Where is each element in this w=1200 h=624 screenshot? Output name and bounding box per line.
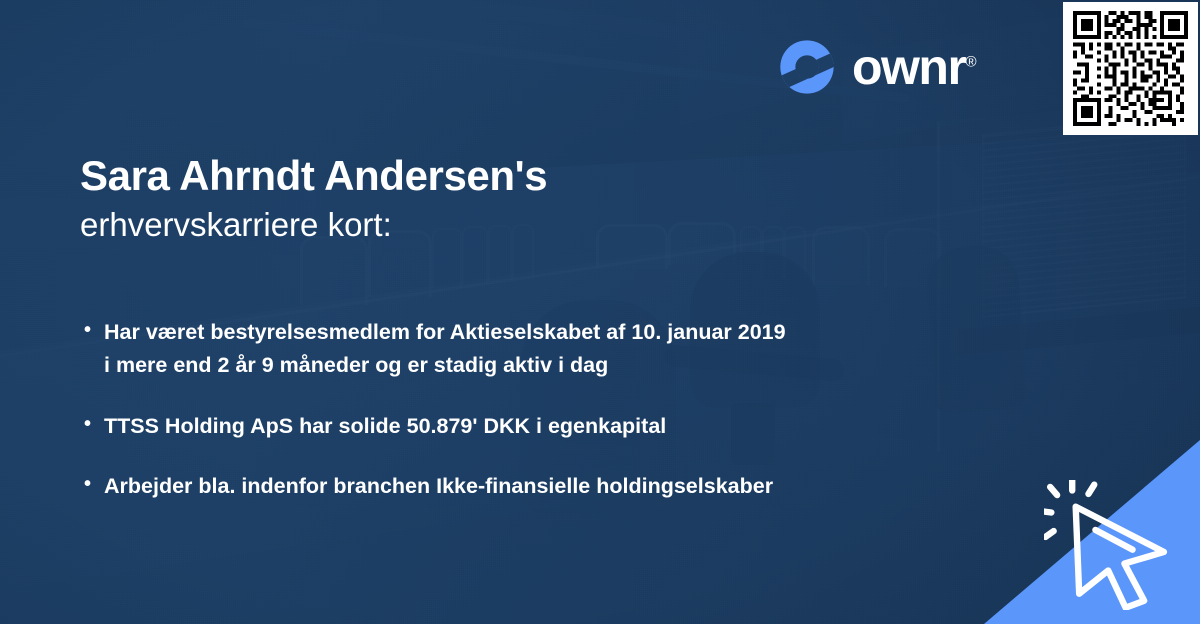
business-card-banner: ownr® xyxy=(0,0,1200,624)
career-facts-list: Har været bestyrelsesmedlem for Aktiesel… xyxy=(82,316,1082,503)
qr-code[interactable] xyxy=(1063,2,1198,135)
list-item: TTSS Holding ApS har solide 50.879' DKK … xyxy=(82,410,1082,443)
ownr-circle-swoosh-icon xyxy=(778,38,836,96)
brand-name: ownr xyxy=(852,39,965,95)
person-name: Sara Ahrndt Andersen's xyxy=(80,152,980,201)
bullet-text: Arbejder bla. indenfor branchen Ikke-fin… xyxy=(104,474,773,498)
list-item: Har været bestyrelsesmedlem for Aktiesel… xyxy=(82,316,1082,383)
qr-code-icon xyxy=(1072,11,1189,126)
subtitle: erhvervskarriere kort: xyxy=(80,205,980,245)
list-item: Arbejder bla. indenfor branchen Ikke-fin… xyxy=(82,470,1082,503)
click-cursor-icon xyxy=(1044,480,1184,610)
bullet-text: Har været bestyrelsesmedlem for Aktiesel… xyxy=(104,320,786,344)
office-background-photo xyxy=(0,0,1200,624)
ownr-wordmark: ownr® xyxy=(852,42,977,92)
bullet-text-continuation: i mere end 2 år 9 måneder og er stadig a… xyxy=(104,349,1082,382)
bullet-text: TTSS Holding ApS har solide 50.879' DKK … xyxy=(104,414,666,438)
grain-overlay xyxy=(0,0,1200,624)
registered-mark: ® xyxy=(965,53,976,70)
ownr-logo[interactable]: ownr® xyxy=(778,38,977,96)
page-title: Sara Ahrndt Andersen's erhvervskarriere … xyxy=(80,152,980,244)
